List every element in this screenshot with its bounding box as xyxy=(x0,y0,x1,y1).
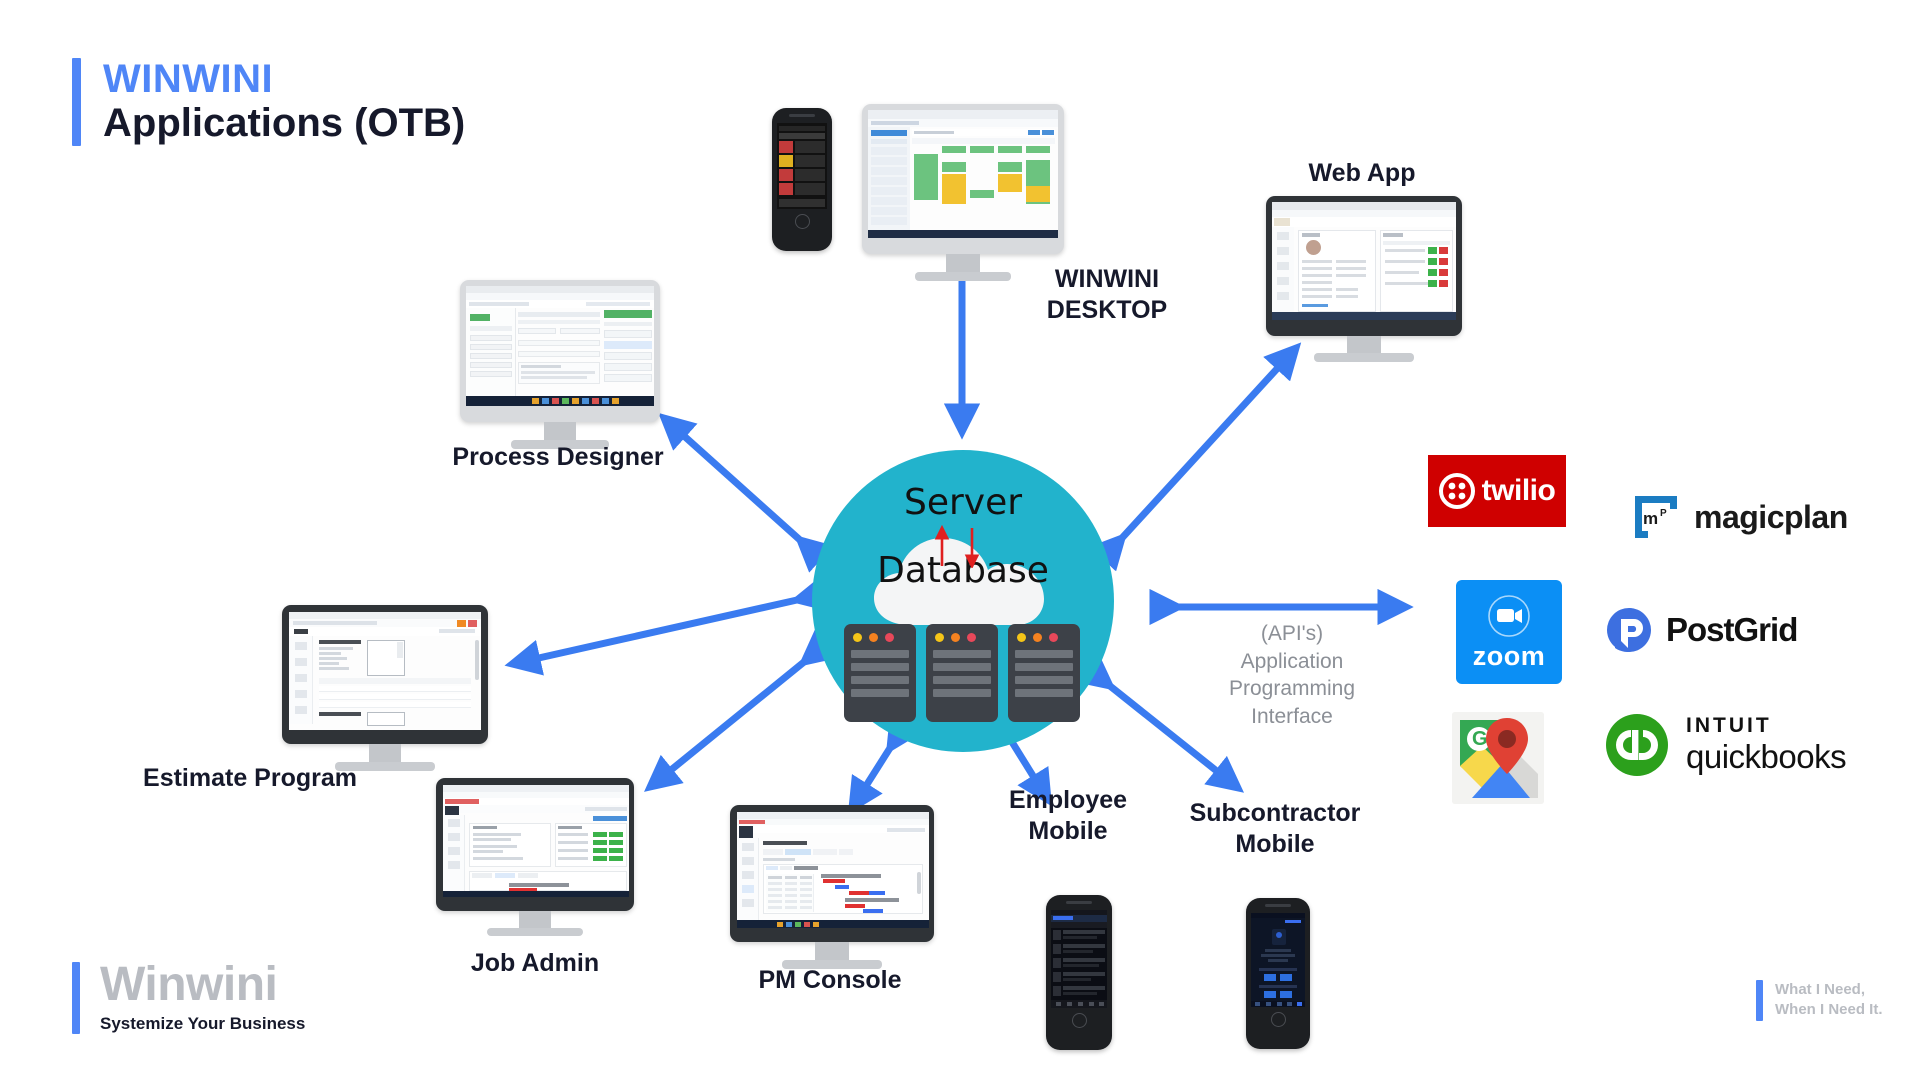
magicplan-icon: m P xyxy=(1632,493,1680,541)
arrow-job-admin xyxy=(650,662,804,787)
device-pm-console xyxy=(730,805,934,969)
logo-magicplan[interactable]: m P magicplan xyxy=(1632,493,1848,541)
footer-logo: Winwini Systemize Your Business xyxy=(72,962,305,1034)
server-racks xyxy=(844,624,1080,722)
device-winwini-desktop xyxy=(862,104,1064,281)
zoom-camera-icon xyxy=(1486,593,1532,639)
footer-slogan-block: What I Need, When I Need It. xyxy=(1756,980,1883,1021)
quickbooks-label-intuit: INTUIT xyxy=(1686,714,1846,738)
device-winwini-desktop-phone xyxy=(772,108,832,251)
label-subcontractor-mobile: Subcontractor Mobile xyxy=(1160,798,1390,861)
logo-twilio[interactable]: twilio xyxy=(1428,455,1566,527)
label-employee-mobile: Employee Mobile xyxy=(978,785,1158,848)
svg-text:P: P xyxy=(1660,508,1667,519)
footer-tagline: Systemize Your Business xyxy=(100,1014,305,1034)
label-process-designer: Process Designer xyxy=(408,442,708,473)
arrow-estimate-program xyxy=(512,600,797,664)
quickbooks-icon xyxy=(1604,712,1670,778)
server-rack xyxy=(926,624,998,722)
device-process-designer xyxy=(460,280,660,449)
device-subcontractor-mobile xyxy=(1246,898,1310,1049)
device-job-admin xyxy=(436,778,634,936)
slide-canvas: WINWINI Applications (OTB) xyxy=(0,0,1920,1080)
twilio-label: twilio xyxy=(1482,474,1556,508)
sync-arrows-icon xyxy=(932,522,994,568)
server-database-hub: Server Database xyxy=(812,450,1114,752)
page-header: WINWINI Applications (OTB) xyxy=(72,58,465,146)
footer-slogan: What I Need, When I Need It. xyxy=(1775,980,1883,1021)
device-web-app xyxy=(1266,196,1462,362)
footer-accent-bar xyxy=(72,962,80,1034)
label-job-admin: Job Admin xyxy=(400,948,670,979)
label-estimate-program: Estimate Program xyxy=(100,763,400,794)
logo-zoom[interactable]: zoom xyxy=(1456,580,1562,684)
label-winwini-desktop: WINWINI DESKTOP xyxy=(1012,264,1202,327)
arrow-web-app xyxy=(1122,348,1296,538)
logo-quickbooks[interactable]: INTUIT quickbooks xyxy=(1604,712,1846,778)
device-employee-mobile xyxy=(1046,895,1112,1050)
header-accent-bar xyxy=(72,58,81,146)
server-rack xyxy=(1008,624,1080,722)
footer-wordmark: Winwini xyxy=(100,962,305,1008)
twilio-icon xyxy=(1439,473,1475,509)
logo-postgrid[interactable]: PostGrid xyxy=(1604,605,1797,655)
svg-text:G: G xyxy=(1472,728,1488,750)
google-maps-icon: G xyxy=(1452,712,1544,804)
label-web-app: Web App xyxy=(1262,158,1462,189)
postgrid-label: PostGrid xyxy=(1666,611,1797,649)
slogan-accent-bar xyxy=(1756,980,1763,1021)
magicplan-label: magicplan xyxy=(1694,499,1848,536)
page-title: WINWINI xyxy=(103,58,465,101)
zoom-label: zoom xyxy=(1473,641,1546,672)
device-estimate-program xyxy=(282,605,488,771)
svg-text:m: m xyxy=(1643,509,1658,528)
hub-label-server: Server xyxy=(812,482,1114,523)
arrow-pm-console xyxy=(852,748,890,808)
arrow-process-designer xyxy=(664,418,800,540)
page-subtitle: Applications (OTB) xyxy=(103,101,465,146)
server-rack xyxy=(844,624,916,722)
quickbooks-label-quickbooks: quickbooks xyxy=(1686,738,1846,776)
label-pm-console: PM Console xyxy=(700,965,960,996)
postgrid-icon xyxy=(1604,605,1654,655)
api-label: (API's) Application Programming Interfac… xyxy=(1192,620,1392,731)
logo-google-maps[interactable]: G xyxy=(1452,712,1544,804)
